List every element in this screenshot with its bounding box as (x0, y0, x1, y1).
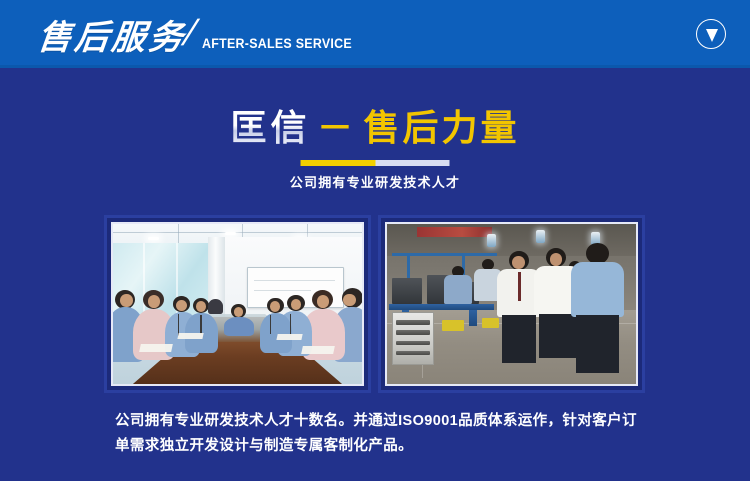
whiteboard-line (254, 280, 335, 281)
worker-legs (576, 315, 618, 373)
person-face (120, 294, 132, 307)
work-bench-leg (469, 310, 476, 326)
hero-divider-left (301, 160, 376, 166)
parts-bin (442, 320, 464, 331)
cabinet-drawer (396, 330, 429, 335)
document-paper (140, 344, 174, 352)
worker-face (550, 253, 562, 266)
chair-back (208, 299, 223, 313)
cabinet-drawer (396, 351, 429, 356)
page-header: 售后服务 / AFTER-SALES SERVICE (0, 0, 750, 68)
photo-frame-workshop (378, 215, 645, 393)
cabinet-drawer (396, 341, 429, 346)
person-face (343, 294, 355, 307)
machine-unit (392, 278, 422, 304)
person-face (196, 301, 206, 311)
ceiling-light (225, 232, 236, 235)
cabinet-drawer (396, 320, 429, 325)
wall-banner (417, 227, 492, 237)
whiteboard-line (254, 290, 311, 291)
hero-title-brand: 匡信 (231, 107, 311, 148)
meeting-room-photo (113, 224, 362, 384)
person-face (270, 301, 280, 311)
hero-divider-right (375, 160, 450, 166)
photo-frame-meeting-room (104, 215, 371, 393)
ceiling-lamp (536, 230, 545, 243)
document-paper (301, 346, 335, 354)
person-face (317, 295, 329, 308)
microphone (270, 315, 272, 334)
ceiling-light (148, 237, 159, 240)
worker-body (444, 275, 471, 304)
worker-legs (502, 315, 537, 363)
hero-title-highlight: 售后力量 (363, 107, 519, 148)
parts-bin (482, 318, 499, 328)
workshop-photo (387, 224, 636, 384)
photo-inner-border (385, 222, 638, 386)
ceiling-line (113, 232, 362, 233)
hero-divider (301, 160, 450, 166)
worker-legs (539, 314, 576, 359)
body-paragraph: 公司拥有专业研发技术人才十数名。并通过ISO9001品质体系运作，针对客户订单需… (115, 409, 645, 459)
chevron-down-circle-icon[interactable] (696, 19, 726, 49)
worker-face (512, 256, 524, 269)
header-title-en: AFTER-SALES SERVICE (202, 36, 352, 51)
header-underline (0, 65, 750, 68)
worker-body (571, 262, 623, 316)
hero-title-dash: － (315, 107, 359, 148)
ceiling-lamp (487, 234, 496, 247)
microphone (200, 315, 202, 334)
person-body (260, 313, 292, 353)
header-title-zh: 售后服务 (35, 10, 188, 59)
hero-subtitle: 公司拥有专业研发技术人才 (0, 172, 750, 191)
document-paper (277, 334, 303, 340)
hero-title: 匡信 － 售后力量 (0, 99, 750, 151)
filing-cabinet (392, 312, 434, 365)
necktie (518, 272, 521, 301)
document-paper (177, 333, 203, 339)
microphone (290, 314, 292, 336)
page-root: 售后服务 / AFTER-SALES SERVICE 匡信 － 售后力量 公司拥… (0, 0, 750, 481)
worker-head (586, 243, 608, 264)
person-body (224, 317, 254, 336)
photo-inner-border (111, 222, 364, 386)
